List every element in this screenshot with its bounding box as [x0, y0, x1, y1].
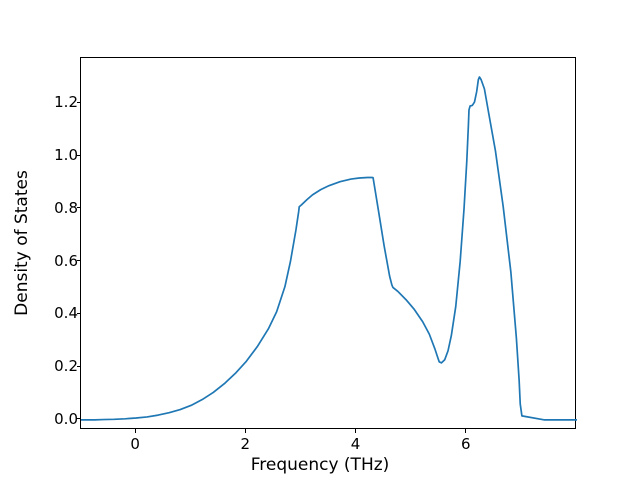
x-tick-mark — [465, 429, 466, 433]
y-tick-label: 0.0 — [54, 410, 78, 428]
x-tick-mark — [245, 429, 246, 433]
y-tick-label: 1.0 — [54, 146, 78, 164]
y-tick-label: 0.2 — [54, 357, 78, 375]
x-tick-label: 4 — [351, 435, 361, 453]
y-tick-label: 0.4 — [54, 304, 78, 322]
y-axis-label: Density of States — [11, 57, 33, 429]
plot-axes — [80, 57, 576, 429]
x-axis-label: Frequency (THz) — [0, 455, 640, 475]
x-tick-mark — [355, 429, 356, 433]
dos-curve — [81, 77, 577, 420]
y-tick-label: 0.8 — [54, 199, 78, 217]
x-tick-label: 0 — [130, 435, 140, 453]
x-tick-label: 6 — [461, 435, 471, 453]
y-tick-label: 1.2 — [54, 93, 78, 111]
x-tick-label: 2 — [241, 435, 251, 453]
x-tick-mark — [135, 429, 136, 433]
y-tick-label: 0.6 — [54, 252, 78, 270]
dos-line-chart — [81, 58, 577, 430]
figure-canvas: 0246 0.00.20.40.60.81.01.2 Frequency (TH… — [0, 0, 640, 480]
